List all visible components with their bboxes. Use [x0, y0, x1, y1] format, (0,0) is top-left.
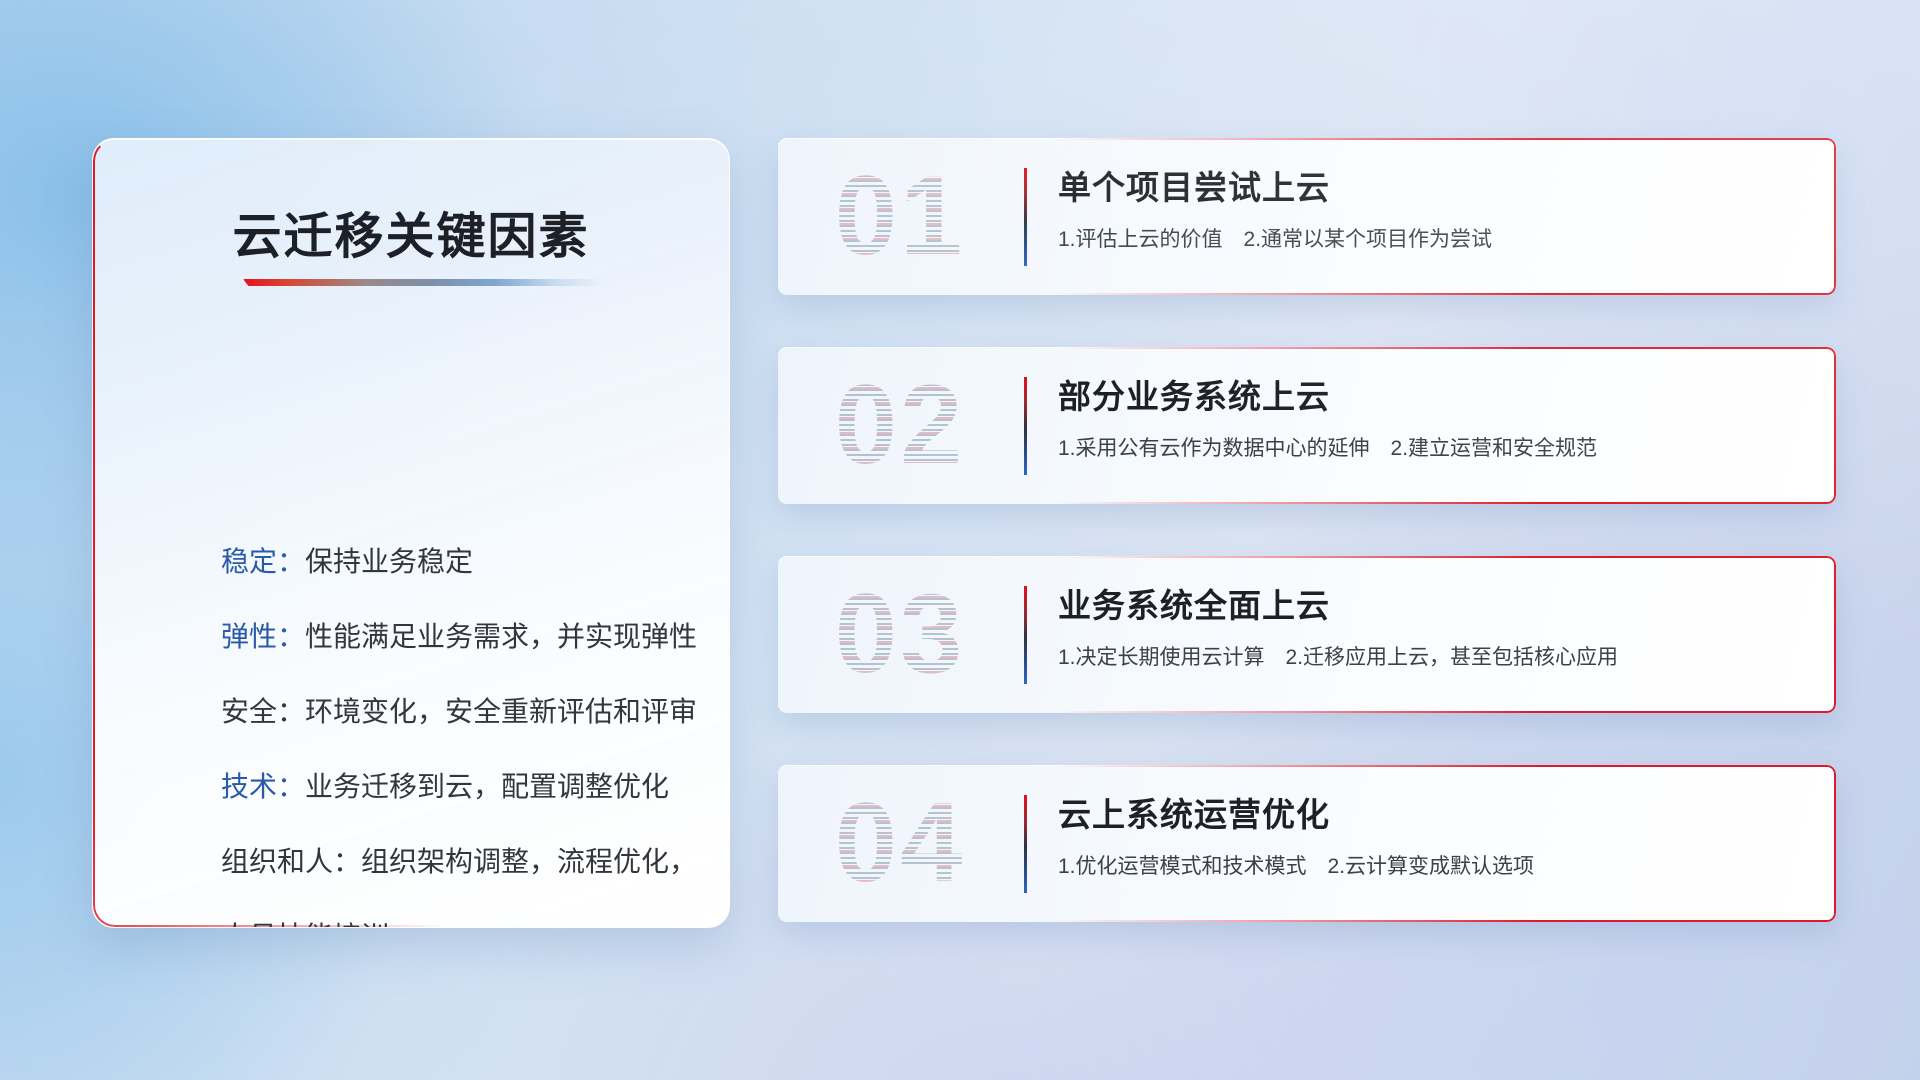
factor-label: 安全： — [221, 696, 305, 727]
stage-card-list: 01 01 单个项目尝试上云 1.评估上云的价值 2.通常以某个项目作为尝试 0… — [778, 138, 1836, 922]
card-body: 部分业务系统上云 1.采用公有云作为数据中心的延伸 2.建立运营和安全规范 — [1058, 373, 1796, 465]
page-title: 云迁移关键因素 — [93, 197, 729, 268]
factor-label: 弹性： — [221, 621, 305, 652]
card-subtitle: 1.决定长期使用云计算 2.迁移应用上云，甚至包括核心应用 — [1058, 642, 1796, 674]
card-subtitle: 1.评估上云的价值 2.通常以某个项目作为尝试 — [1058, 224, 1796, 256]
factor-item-elasticity: 弹性：性能满足业务需求，并实现弹性 — [221, 599, 681, 674]
card-body: 单个项目尝试上云 1.评估上云的价值 2.通常以某个项目作为尝试 — [1058, 164, 1796, 256]
factor-item-security: 安全：环境变化，安全重新评估和评审 — [221, 674, 681, 749]
factor-text: 保持业务稳定 — [305, 546, 473, 577]
stage-number-ghost-tint: 04 — [800, 777, 1000, 909]
stage-card-03[interactable]: 03 03 业务系统全面上云 1.决定长期使用云计算 2.迁移应用上云，甚至包括… — [778, 556, 1836, 713]
card-divider-bar — [1024, 795, 1027, 893]
stage-number-ghost-tint: 02 — [800, 359, 1000, 491]
factor-item-organization: 组织和人：组织架构调整，流程优化， — [221, 824, 681, 899]
stage-number-ghost-tint: 03 — [800, 568, 1000, 700]
card-heading: 业务系统全面上云 — [1058, 582, 1796, 630]
factor-item-stability: 稳定：保持业务稳定 — [221, 524, 681, 599]
title-underline-rule — [243, 279, 603, 286]
factor-text: 环境变化，安全重新评估和评审 — [305, 696, 697, 727]
factor-list: 稳定：保持业务稳定 弹性：性能满足业务需求，并实现弹性 安全：环境变化，安全重新… — [221, 524, 681, 928]
factor-text: 人员技能培训 — [221, 921, 389, 928]
card-body: 业务系统全面上云 1.决定长期使用云计算 2.迁移应用上云，甚至包括核心应用 — [1058, 582, 1796, 674]
card-subtitle: 1.采用公有云作为数据中心的延伸 2.建立运营和安全规范 — [1058, 433, 1796, 465]
stage-number-ghost: 01 — [800, 150, 1000, 282]
card-body: 云上系统运营优化 1.优化运营模式和技术模式 2.云计算变成默认选项 — [1058, 791, 1796, 883]
factor-text: 组织架构调整，流程优化， — [361, 846, 697, 877]
stage-card-04[interactable]: 04 04 云上系统运营优化 1.优化运营模式和技术模式 2.云计算变成默认选项 — [778, 765, 1836, 922]
stage-card-01[interactable]: 01 01 单个项目尝试上云 1.评估上云的价值 2.通常以某个项目作为尝试 — [778, 138, 1836, 295]
stage-card-02[interactable]: 02 02 部分业务系统上云 1.采用公有云作为数据中心的延伸 2.建立运营和安… — [778, 347, 1836, 504]
factor-label: 技术： — [221, 771, 305, 802]
factor-label: 稳定： — [221, 546, 305, 577]
factor-text: 性能满足业务需求，并实现弹性 — [305, 621, 697, 652]
card-heading: 单个项目尝试上云 — [1058, 164, 1796, 212]
slide-canvas: 云迁移关键因素 稳定：保持业务稳定 弹性：性能满足业务需求，并实现弹性 安全：环… — [0, 0, 1920, 1080]
card-heading: 云上系统运营优化 — [1058, 791, 1796, 839]
stage-number-ghost: 02 — [800, 359, 1000, 491]
stage-number-ghost: 04 — [800, 777, 1000, 909]
card-divider-bar — [1024, 377, 1027, 475]
card-subtitle: 1.优化运营模式和技术模式 2.云计算变成默认选项 — [1058, 851, 1796, 883]
card-heading: 部分业务系统上云 — [1058, 373, 1796, 421]
card-divider-bar — [1024, 586, 1027, 684]
factor-label: 组织和人： — [221, 846, 361, 877]
key-factors-panel: 云迁移关键因素 稳定：保持业务稳定 弹性：性能满足业务需求，并实现弹性 安全：环… — [92, 138, 730, 928]
factor-text: 业务迁移到云，配置调整优化 — [305, 771, 669, 802]
card-divider-bar — [1024, 168, 1027, 266]
factor-item-technology: 技术：业务迁移到云，配置调整优化 — [221, 749, 681, 824]
factor-item-organization-cont: 人员技能培训 — [221, 899, 681, 928]
stage-number-ghost: 03 — [800, 568, 1000, 700]
stage-number-ghost-tint: 01 — [800, 150, 1000, 282]
